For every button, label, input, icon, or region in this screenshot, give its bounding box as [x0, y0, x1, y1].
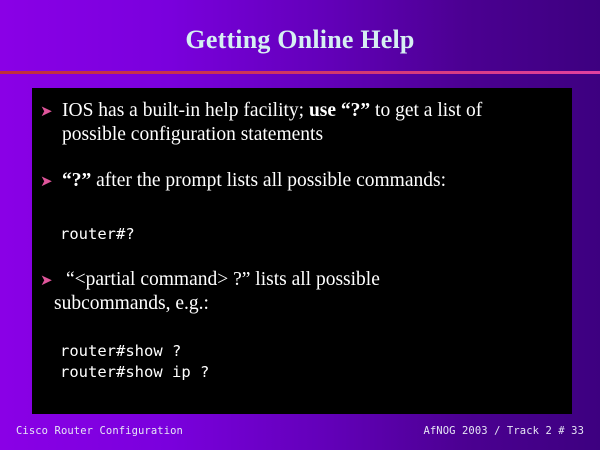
- bullet-2-text-post: after the prompt lists all possible comm…: [91, 170, 446, 191]
- bullet-1-text-pre: IOS has a built-in help facility;: [62, 100, 309, 121]
- arrow-bullet-icon: ➤: [40, 99, 53, 123]
- footer-slide-reference: AfNOG 2003 / Track 2 # 33: [423, 425, 584, 437]
- code-block-2: router#show ? router#show ip ?: [60, 341, 209, 383]
- bullet-item-3-line2: subcommands, e.g.:: [40, 292, 568, 316]
- bullet-item-2-line1: “?” after the prompt lists all possible …: [40, 169, 568, 193]
- bullet-item-1-line1: IOS has a built-in help facility; use “?…: [40, 99, 568, 123]
- title-divider: [0, 71, 600, 74]
- title-band: Getting Online Help: [0, 0, 600, 71]
- page-title: Getting Online Help: [0, 24, 600, 56]
- bullet-2-text-bold: “?”: [62, 170, 91, 191]
- bullet-item-1-line2: possible configuration statements: [40, 123, 568, 147]
- content-body: ➤ IOS has a built-in help facility; use …: [32, 88, 572, 414]
- arrow-bullet-icon: ➤: [40, 268, 53, 292]
- bullet-1-text-bold: use “?”: [309, 100, 370, 121]
- bullet-item-1: ➤ IOS has a built-in help facility; use …: [40, 99, 568, 147]
- code-block-1: router#?: [60, 224, 135, 245]
- slide: Getting Online Help ➤ IOS has a built-in…: [0, 0, 600, 450]
- bullet-item-2: ➤ “?” after the prompt lists all possibl…: [40, 169, 568, 193]
- footer-course-name: Cisco Router Configuration: [16, 425, 183, 437]
- bullet-1-text-post: to get a list of: [370, 100, 482, 121]
- bullet-item-3: ➤ “<partial command> ?” lists all possib…: [40, 268, 568, 316]
- arrow-bullet-icon: ➤: [40, 169, 53, 193]
- bullet-item-3-line1: “<partial command> ?” lists all possible: [40, 268, 568, 292]
